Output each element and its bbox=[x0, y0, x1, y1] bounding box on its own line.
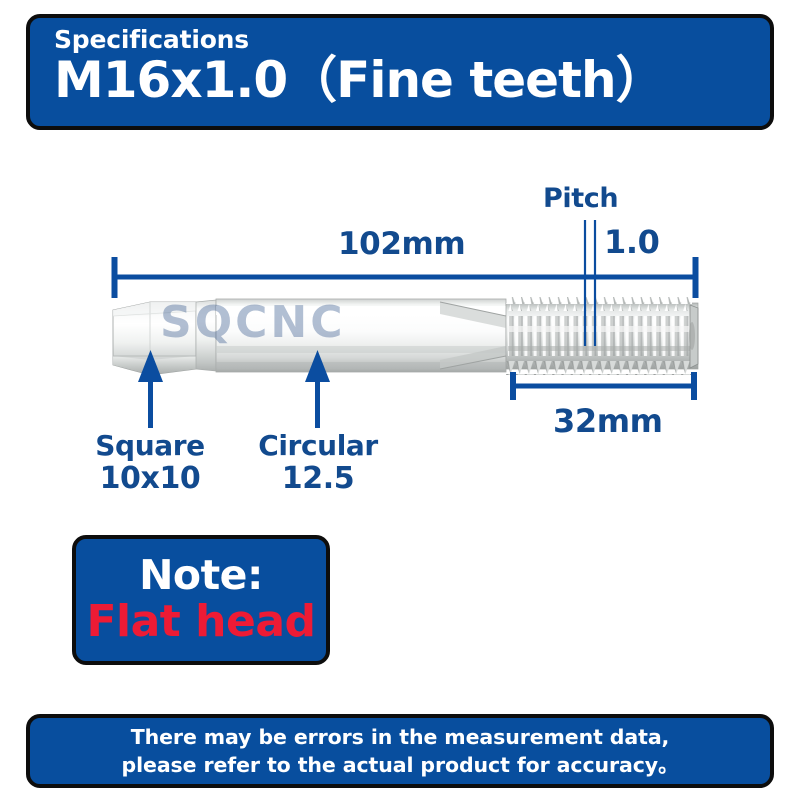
product-diagram: SQCNC 102mm Pitch bbox=[0, 150, 800, 520]
spec-label: Specifications bbox=[54, 26, 770, 54]
thread-length-dimension bbox=[512, 372, 695, 400]
callout-square: Square 10x10 bbox=[85, 430, 215, 496]
callout-circular-name: Circular bbox=[243, 430, 393, 462]
pitch-marker bbox=[585, 220, 595, 346]
callout-circular-value: 12.5 bbox=[243, 462, 393, 496]
callout-square-name: Square bbox=[85, 430, 215, 462]
footer-line-2: please refer to the actual product for a… bbox=[122, 751, 679, 779]
callout-square-value: 10x10 bbox=[85, 462, 215, 496]
note-box: Note: Flat head bbox=[72, 535, 330, 665]
footer-disclaimer-banner: There may be errors in the measurement d… bbox=[26, 714, 774, 788]
header-banner: Specifications M16x1.0（Fine teeth） bbox=[26, 14, 774, 130]
square-callout-arrow bbox=[138, 350, 163, 428]
total-length-label: 102mm bbox=[338, 226, 465, 262]
note-title: Note: bbox=[139, 554, 263, 597]
note-value: Flat head bbox=[86, 599, 315, 645]
callout-circular: Circular 12.5 bbox=[243, 430, 393, 496]
pitch-label: Pitch bbox=[543, 183, 618, 214]
pitch-value: 1.0 bbox=[604, 223, 660, 261]
thread-length-label: 32mm bbox=[553, 402, 663, 440]
footer-line-1: There may be errors in the measurement d… bbox=[131, 723, 670, 751]
total-length-dimension bbox=[113, 257, 697, 298]
circular-callout-arrow bbox=[305, 350, 330, 428]
spec-value: M16x1.0（Fine teeth） bbox=[54, 55, 770, 106]
